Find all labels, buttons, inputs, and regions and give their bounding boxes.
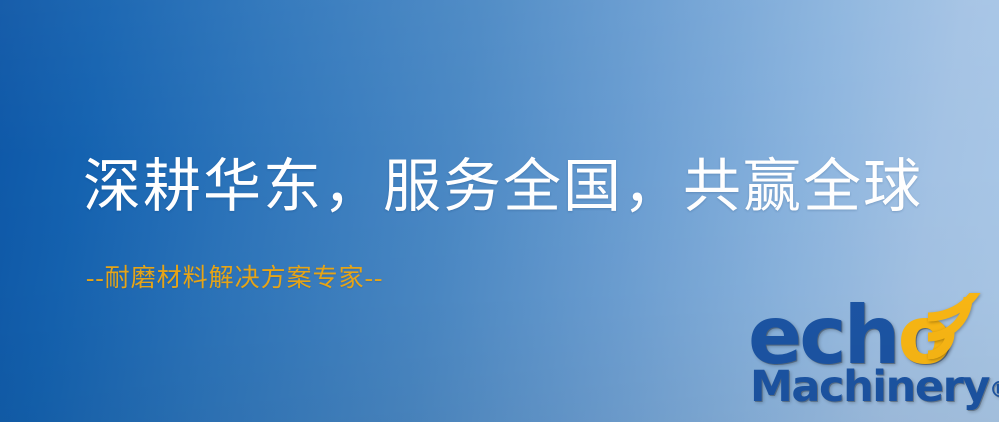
company-logo: echo Machinery® <box>748 300 999 422</box>
registered-trademark-icon: ® <box>989 378 999 403</box>
banner-subtitle: --耐磨材料解决方案专家-- <box>86 264 383 294</box>
echo-signal-arcs-icon <box>924 293 996 359</box>
banner-headline: 深耕华东，服务全国，共赢全球 <box>83 152 923 222</box>
hero-banner: 深耕华东，服务全国，共赢全球 --耐磨材料解决方案专家-- echo Machi… <box>0 0 999 422</box>
logo-tagline-text: Machinery <box>750 362 989 412</box>
logo-tagline: Machinery® <box>750 363 999 415</box>
